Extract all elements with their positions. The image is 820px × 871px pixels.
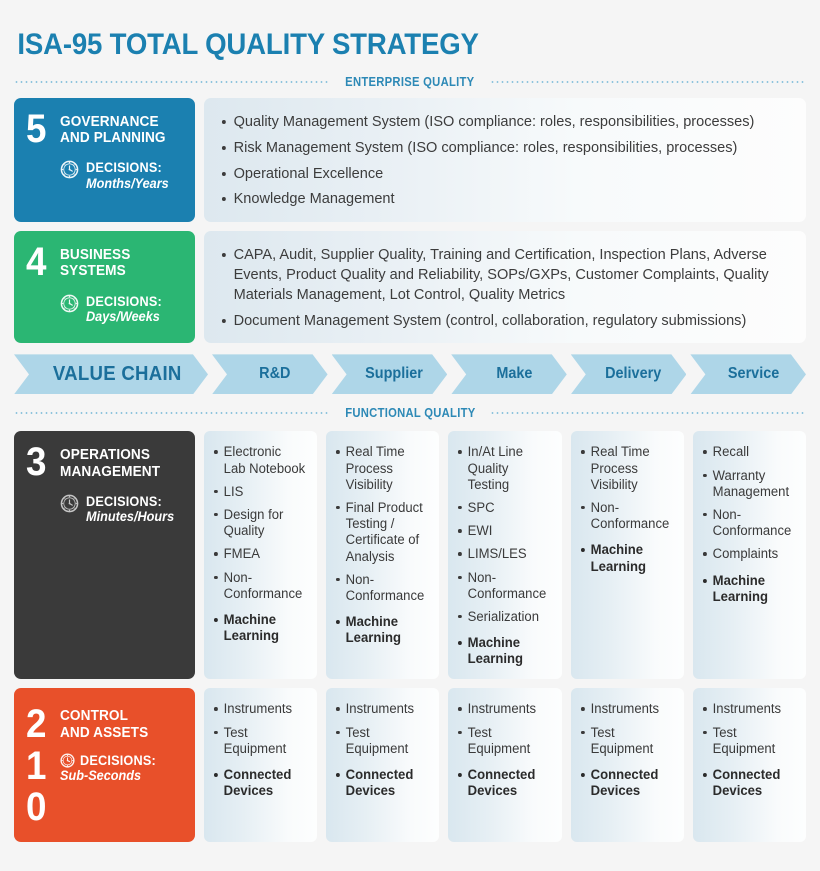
level-5-decisions-value: Months/Years [86,176,169,191]
divider-functional-quality: FUNCTIONAL QUALITY [10,393,810,429]
list-item: FMEA [213,546,305,562]
level-5-row: 5 GOVERNANCE AND PLANNING [10,98,810,222]
level-4-title: BUSINESS SYSTEMS [60,247,178,279]
level-3-columns: Electronic Lab Notebook LIS Design for Q… [204,431,806,679]
list-item: Instruments [335,701,427,717]
level-3-list-supplier: Real Time Process Visibility Final Produ… [335,444,430,646]
clock-icon [60,160,79,179]
level-5-body: GOVERNANCE AND PLANNING DECIS [60,112,185,208]
list-item: Risk Management System (ISO compliance: … [220,138,773,158]
clock-icon [60,494,79,513]
level-2-list-service: Instruments Test Equipment Connected Dev… [702,701,797,799]
divider-rule-left [14,412,330,414]
level-2-decisions-label: DECISIONS: [80,753,156,768]
level-2-body: CONTROL AND ASSETS [60,702,185,828]
level-5-decisions: DECISIONS: Months/Years [60,160,185,191]
level-3-column-make: In/At Line Quality Testing SPC EWI LIMS/… [448,431,561,679]
list-item: Knowledge Management [220,189,773,209]
stage-label: Service [728,365,779,383]
level-3-column-rd: Electronic Lab Notebook LIS Design for Q… [204,431,317,679]
page-title: ISA-95 TOTAL QUALITY STRATEGY [10,0,746,62]
value-chain-label-text: VALUE CHAIN [53,363,182,386]
level-2-numbers: 2 1 0 [26,702,57,828]
level-2-column-service: Instruments Test Equipment Connected Dev… [693,688,806,842]
value-chain-label: VALUE CHAIN [14,354,208,394]
level-2-badge[interactable]: 2 1 0 CONTROL AND ASSETS [14,688,195,842]
level-3-decisions-text: DECISIONS: Minutes/Hours [86,494,180,525]
level-2-decisions-text: DECISIONS: Sub-Seconds [60,753,161,784]
list-item: Quality Management System (ISO complianc… [220,112,773,132]
value-chain-stage-service[interactable]: Service [690,354,806,394]
list-item-highlight: Connected Devices [335,767,427,799]
list-item-highlight: Connected Devices [457,767,549,799]
level-2-row: 2 1 0 CONTROL AND ASSETS [10,688,810,842]
value-chain-stage-rd[interactable]: R&D [212,354,328,394]
level-3-column-supplier: Real Time Process Visibility Final Produ… [326,431,439,679]
level-4-body: BUSINESS SYSTEMS DECISIONS: [60,245,185,329]
level-2-list-delivery: Instruments Test Equipment Connected Dev… [580,701,675,799]
level-3-title: OPERATIONS MANAGEMENT [60,447,178,479]
infographic-root: ISA-95 TOTAL QUALITY STRATEGY ENTERPRISE… [0,0,820,871]
level-number-0: 0 [26,787,57,828]
list-item: Electronic Lab Notebook [213,444,305,476]
level-3-row: 3 OPERATIONS MANAGEMENT [10,431,810,679]
level-2-column-make: Instruments Test Equipment Connected Dev… [448,688,561,842]
value-chain-stage-supplier[interactable]: Supplier [332,354,448,394]
list-item: Test Equipment [213,725,305,757]
level-2-decisions-label-row: DECISIONS: [60,753,161,768]
list-item: SPC [457,500,549,516]
list-item-highlight: Machine Learning [213,612,305,644]
list-item: CAPA, Audit, Supplier Quality, Training … [220,245,773,304]
level-3-decisions: DECISIONS: Minutes/Hours [60,494,185,525]
level-3-list-rd: Electronic Lab Notebook LIS Design for Q… [213,444,308,644]
list-item: Test Equipment [335,725,427,757]
level-2-decisions: DECISIONS: Sub-Seconds [60,753,185,784]
list-item: Non-Conformance [213,570,305,602]
level-2-list-make: Instruments Test Equipment Connected Dev… [457,701,552,799]
list-item: Test Equipment [457,725,549,757]
list-item-highlight: Connected Devices [702,767,794,799]
stage-label: R&D [259,365,290,383]
divider-rule-right [490,81,806,83]
value-chain-stage-delivery[interactable]: Delivery [571,354,687,394]
level-3-decisions-label: DECISIONS: [86,494,174,509]
list-item: Real Time Process Visibility [580,444,672,493]
list-item: Recall [702,444,794,460]
level-3-badge[interactable]: 3 OPERATIONS MANAGEMENT [14,431,195,679]
list-item: LIMS/LES [457,546,549,562]
divider-label-enterprise: ENTERPRISE QUALITY [345,75,474,89]
level-3-column-delivery: Real Time Process Visibility Non-Conform… [571,431,684,679]
level-4-row: 4 BUSINESS SYSTEMS [10,231,810,343]
list-item: Operational Excellence [220,164,773,184]
list-item-highlight: Machine Learning [457,635,549,667]
list-item: Instruments [213,701,305,717]
level-2-columns: Instruments Test Equipment Connected Dev… [204,688,806,842]
list-item: Non-Conformance [457,570,549,602]
level-4-decisions: DECISIONS: Days/Weeks [60,294,185,325]
level-3-decisions-value: Minutes/Hours [86,509,174,524]
level-5-decisions-text: DECISIONS: Months/Years [86,160,174,191]
list-item: LIS [213,484,305,500]
level-2-column-rd: Instruments Test Equipment Connected Dev… [204,688,317,842]
level-4-number: 4 [26,245,57,329]
level-4-decisions-label: DECISIONS: [86,294,162,309]
clock-icon [60,294,79,313]
level-3-number: 3 [26,445,57,665]
level-2-list-rd: Instruments Test Equipment Connected Dev… [213,701,308,799]
divider-label-functional: FUNCTIONAL QUALITY [345,406,475,420]
stage-label: Supplier [366,365,424,383]
list-item-highlight: Connected Devices [213,767,305,799]
list-item: Complaints [702,546,794,562]
level-5-panel: Quality Management System (ISO complianc… [204,98,806,222]
list-item: Document Management System (control, col… [220,311,773,331]
level-4-badge[interactable]: 4 BUSINESS SYSTEMS [14,231,195,343]
list-item: Real Time Process Visibility [335,444,427,493]
list-item: In/At Line Quality Testing [457,444,549,493]
level-5-badge[interactable]: 5 GOVERNANCE AND PLANNING [14,98,195,222]
level-3-list-delivery: Real Time Process Visibility Non-Conform… [580,444,675,574]
level-3-list-make: In/At Line Quality Testing SPC EWI LIMS/… [457,444,552,667]
list-item: Warranty Management [702,468,794,500]
level-3-list-service: Recall Warranty Management Non-Conforman… [702,444,797,605]
list-item: Design for Quality [213,507,305,539]
list-item-highlight: Machine Learning [702,573,794,605]
list-item: EWI [457,523,549,539]
level-4-bullet-list: CAPA, Audit, Supplier Quality, Training … [220,245,790,330]
level-number-2: 2 [26,704,57,745]
level-2-column-delivery: Instruments Test Equipment Connected Dev… [571,688,684,842]
divider-rule-right [490,412,806,414]
clock-icon [60,753,75,768]
divider-enterprise-quality: ENTERPRISE QUALITY [10,62,810,98]
list-item: Non-Conformance [580,500,672,532]
list-item: Test Equipment [580,725,672,757]
level-4-panel: CAPA, Audit, Supplier Quality, Training … [204,231,806,343]
list-item: Instruments [457,701,549,717]
level-5-bullet-list: Quality Management System (ISO complianc… [220,112,790,209]
level-3-body: OPERATIONS MANAGEMENT DECISIO [60,445,185,665]
level-5-title: GOVERNANCE AND PLANNING [60,114,178,146]
level-2-list-supplier: Instruments Test Equipment Connected Dev… [335,701,430,799]
stage-label: Make [496,365,532,383]
divider-rule-left [14,81,330,83]
value-chain-stage-make[interactable]: Make [451,354,567,394]
list-item: Test Equipment [702,725,794,757]
value-chain-ribbon: VALUE CHAIN R&D Supplier Make Delivery S… [10,343,810,393]
level-2-column-supplier: Instruments Test Equipment Connected Dev… [326,688,439,842]
list-item-highlight: Connected Devices [580,767,672,799]
list-item-highlight: Machine Learning [580,542,672,574]
list-item-highlight: Machine Learning [335,614,427,646]
list-item: Serialization [457,609,549,625]
list-item: Instruments [580,701,672,717]
level-2-decisions-value: Sub-Seconds [60,768,155,783]
list-item: Instruments [702,701,794,717]
level-2-title: CONTROL AND ASSETS [60,708,178,740]
stage-label: Delivery [606,365,662,383]
level-3-column-service: Recall Warranty Management Non-Conforman… [693,431,806,679]
level-5-number: 5 [26,112,57,208]
level-4-decisions-value: Days/Weeks [86,309,162,324]
level-number-1: 1 [26,746,57,787]
list-item: Non-Conformance [702,507,794,539]
list-item: Final Product Testing / Certificate of A… [335,500,427,565]
level-4-decisions-text: DECISIONS: Days/Weeks [86,294,167,325]
list-item: Non-Conformance [335,572,427,604]
level-5-decisions-label: DECISIONS: [86,160,169,175]
